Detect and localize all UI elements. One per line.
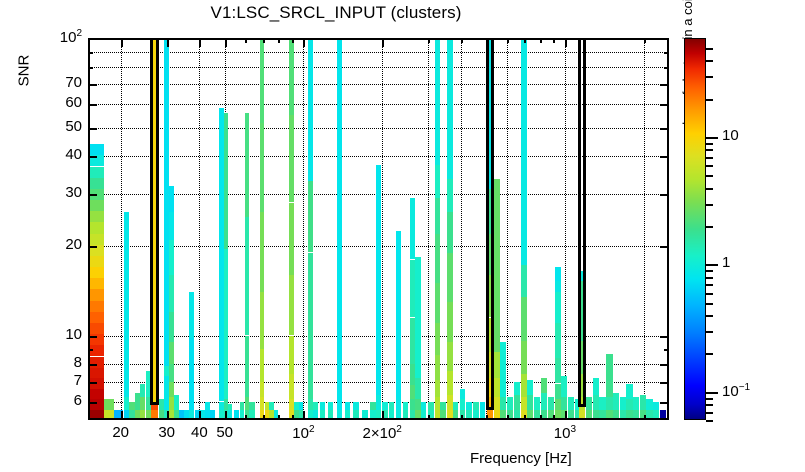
heatmap-cell xyxy=(613,410,619,420)
heatmap-cell xyxy=(345,410,350,420)
y-tick-major xyxy=(88,156,97,158)
heatmap-cell xyxy=(633,397,639,410)
heatmap-cell xyxy=(169,186,174,212)
heatmap-cell xyxy=(653,402,660,411)
heatmap-cell xyxy=(514,410,520,420)
heatmap-cell xyxy=(210,410,215,420)
heatmap-cell xyxy=(88,211,104,222)
heatmap-cell xyxy=(313,402,318,411)
heatmap-cell xyxy=(613,393,619,410)
heatmap-cell xyxy=(362,410,367,420)
y-axis-title: SNR xyxy=(16,41,33,101)
heatmap-cell xyxy=(228,410,232,420)
x-tick-minor xyxy=(278,415,280,420)
heatmap-cell xyxy=(435,198,441,234)
heatmap-cell xyxy=(453,402,459,411)
heatmap-cell xyxy=(88,222,104,233)
heatmap-cell xyxy=(421,402,427,411)
colorbar-tick-minor xyxy=(706,48,713,50)
y-tick-major-right xyxy=(660,38,669,40)
heatmap-cell xyxy=(88,410,104,420)
y-tick-minor xyxy=(88,52,93,54)
y-tick-major xyxy=(88,38,97,40)
heatmap-cell xyxy=(460,389,466,399)
heatmap-cell xyxy=(260,382,265,398)
gridline-vertical xyxy=(382,38,383,420)
y-tick-major xyxy=(88,128,97,130)
heatmap-cell xyxy=(473,410,479,420)
heatmap-cell xyxy=(586,397,592,410)
heatmap-cell xyxy=(88,368,104,378)
heatmap-cell xyxy=(88,312,104,323)
colorbar-tick-label: 10 xyxy=(722,127,739,144)
heatmap-cell xyxy=(289,38,294,115)
colorbar-tick-minor xyxy=(706,165,713,167)
x-tick-minor xyxy=(486,415,488,420)
heatmap-cell xyxy=(308,38,313,181)
heatmap-cell xyxy=(345,402,350,411)
heatmap-cell xyxy=(260,38,265,123)
heatmap-cell xyxy=(308,253,313,400)
x-tick-label: 20 xyxy=(112,424,129,441)
colorbar-tick-label: 10−1 xyxy=(722,382,750,400)
heatmap-cell xyxy=(428,402,434,411)
heatmap-cell xyxy=(389,402,394,411)
x-tick-minor-top xyxy=(540,38,542,43)
heatmap-cell xyxy=(289,203,294,275)
y-tick-major-right xyxy=(660,84,669,86)
heatmap-cell xyxy=(88,178,104,189)
heatmap-cell xyxy=(403,410,409,420)
heatmap-cell xyxy=(527,380,533,395)
y-tick-major xyxy=(88,402,97,404)
colorbar-tick-minor xyxy=(706,412,713,414)
heatmap-cell xyxy=(561,376,568,397)
y-tick-major xyxy=(88,194,97,196)
heatmap-cell xyxy=(599,410,605,420)
y-tick-minor-right xyxy=(664,349,669,351)
x-tick-major xyxy=(225,411,227,420)
y-tick-major xyxy=(88,246,97,248)
x-tick-minor-top xyxy=(644,38,646,43)
heatmap-cell xyxy=(88,200,104,211)
heatmap-cell xyxy=(328,410,333,420)
heatmap-cell xyxy=(169,342,174,364)
heatmap-cell xyxy=(500,397,506,410)
x-tick-label: 40 xyxy=(191,424,208,441)
heatmap-cell xyxy=(606,354,612,398)
x-tick-minor xyxy=(292,415,294,420)
heatmap-cell xyxy=(88,267,104,278)
y-tick-minor xyxy=(88,67,93,69)
gridline-vertical xyxy=(565,38,566,420)
heatmap-cell xyxy=(104,410,114,420)
heatmap-cell xyxy=(660,410,667,420)
heatmap-cell xyxy=(260,123,265,213)
colorbar-tick-major xyxy=(706,137,718,139)
heatmap-cell xyxy=(606,410,612,420)
heatmap-cell xyxy=(289,336,294,375)
heatmap-cell xyxy=(313,410,318,420)
heatmap-cell xyxy=(435,355,441,380)
heatmap-cell xyxy=(396,397,401,410)
heatmap-cell xyxy=(260,349,265,382)
heatmap-cell xyxy=(415,257,420,378)
chart-title: V1:LSC_SRCL_INPUT (clusters) xyxy=(0,3,672,23)
heatmap-cell xyxy=(521,297,527,341)
heatmap-cell xyxy=(447,253,453,302)
y-tick-minor-right xyxy=(664,52,669,54)
x-tick-minor-top xyxy=(553,38,555,43)
heatmap-cell xyxy=(403,402,409,411)
heatmap-cell xyxy=(626,410,632,420)
heatmap-cell xyxy=(189,338,194,410)
y-tick-major-right xyxy=(660,246,669,248)
colorbar-tick-minor xyxy=(706,353,713,355)
heatmap-cell xyxy=(440,402,446,411)
heatmap-cell xyxy=(480,410,486,420)
x-tick-major-top xyxy=(303,38,305,47)
y-tick-major-right xyxy=(660,156,669,158)
heatmap-cell xyxy=(435,234,441,284)
heatmap-cell xyxy=(606,397,612,410)
y-tick-major-right xyxy=(660,336,669,338)
heatmap-cell xyxy=(548,397,554,410)
heatmap-cell xyxy=(376,410,381,420)
heatmap-cell xyxy=(435,380,441,398)
x-tick-minor-top xyxy=(461,38,463,43)
heatmap-cell xyxy=(480,402,486,411)
heatmap-cell xyxy=(224,249,229,399)
heatmap-cell xyxy=(561,397,568,410)
heatmap-cell xyxy=(586,410,592,420)
heatmap-cell xyxy=(415,378,420,399)
heatmap-cell xyxy=(376,165,381,396)
heatmap-cell xyxy=(189,292,194,338)
y-tick-major-right xyxy=(660,104,669,106)
heatmap-cell xyxy=(289,374,294,399)
heatmap-cell xyxy=(88,378,104,389)
heatmap-cell xyxy=(555,292,561,323)
heatmap-cell xyxy=(440,410,446,420)
heatmap-cell xyxy=(541,410,547,420)
heatmap-cell xyxy=(626,384,632,400)
heatmap-cell xyxy=(555,281,561,292)
gridline-vertical xyxy=(644,38,645,420)
heatmap-cell xyxy=(633,410,639,420)
colorbar-tick-minor xyxy=(706,331,713,333)
heatmap-cell xyxy=(353,410,359,420)
heatmap-cell xyxy=(500,342,506,397)
x-tick-label: 50 xyxy=(216,424,233,441)
x-tick-major-top xyxy=(382,38,384,47)
heatmap-cell xyxy=(289,115,294,202)
heatmap-cell xyxy=(620,410,626,420)
colorbar-tick-minor xyxy=(706,149,713,151)
veto-band-box xyxy=(150,38,159,405)
heatmap-cell xyxy=(599,397,605,410)
heatmap-cell xyxy=(151,410,158,420)
heatmap-cell xyxy=(447,302,453,343)
veto-band-box xyxy=(578,38,586,407)
heatmap-cell xyxy=(410,198,416,260)
y-tick-major-right xyxy=(660,194,669,196)
heatmap-cell xyxy=(245,336,250,398)
colorbar-frame xyxy=(684,38,706,420)
heatmap-cell xyxy=(453,410,459,420)
colorbar-tick-minor xyxy=(706,175,713,177)
heatmap-cell xyxy=(447,342,453,371)
heatmap-cell xyxy=(473,402,479,411)
heatmap-cell xyxy=(260,292,265,349)
heatmap-cell xyxy=(435,323,441,355)
heatmap-cell xyxy=(88,144,104,155)
y-tick-major xyxy=(88,382,97,384)
heatmap-cell xyxy=(320,402,325,411)
heatmap-cell xyxy=(593,395,599,410)
heatmap-cell xyxy=(169,212,174,240)
heatmap-cell xyxy=(646,410,653,420)
x-tick-minor xyxy=(524,415,526,420)
heatmap-cell xyxy=(466,410,472,420)
heatmap-cell xyxy=(396,410,401,420)
heatmap-cell xyxy=(514,382,520,396)
x-tick-minor xyxy=(644,415,646,420)
x-tick-major xyxy=(199,411,201,420)
y-tick-minor xyxy=(88,349,93,351)
colorbar-tick-minor xyxy=(706,60,713,62)
colorbar-tick-minor xyxy=(706,284,713,286)
heatmap-cell xyxy=(527,410,533,420)
heatmap-cell xyxy=(308,181,313,252)
heatmap-cell xyxy=(88,289,104,300)
heatmap-cell xyxy=(396,231,401,398)
heatmap-cell xyxy=(88,301,104,312)
heatmap-cell xyxy=(447,38,453,179)
x-tick-minor xyxy=(540,415,542,420)
heatmap-cell xyxy=(568,410,575,420)
heatmap-cell xyxy=(460,399,466,410)
x-tick-label: 103 xyxy=(554,424,576,442)
y-tick-major xyxy=(88,364,97,366)
y-tick-major-right xyxy=(660,402,669,404)
heatmap-cell xyxy=(289,275,294,336)
heatmap-cell xyxy=(521,265,527,296)
x-tick-minor-top xyxy=(292,38,294,43)
heatmap-cell xyxy=(174,395,179,410)
heatmap-cell xyxy=(521,38,527,265)
x-tick-minor xyxy=(553,415,555,420)
heatmap-cell xyxy=(337,410,342,420)
heatmap-cell xyxy=(435,165,441,198)
heatmap-cell xyxy=(421,410,427,420)
x-tick-major xyxy=(121,411,123,420)
heatmap-cell xyxy=(447,179,453,212)
heatmap-cell xyxy=(320,410,325,420)
heatmap-cell xyxy=(299,402,304,411)
heatmap-cell xyxy=(88,278,104,289)
colorbar-tick-label: 1 xyxy=(722,254,730,271)
heatmap-cell xyxy=(568,397,575,410)
y-tick-minor-right xyxy=(664,67,669,69)
colorbar-tick-minor xyxy=(706,404,713,406)
y-tick-major xyxy=(88,336,97,338)
heatmap-cell xyxy=(593,410,599,420)
x-tick-minor-top xyxy=(507,38,509,43)
heatmap-cell xyxy=(653,410,660,420)
heatmap-cell xyxy=(447,371,453,395)
heatmap-cell xyxy=(249,402,254,411)
heatmap-cell xyxy=(88,389,104,399)
x-tick-major xyxy=(167,411,169,420)
veto-band-box xyxy=(486,38,494,410)
heatmap-cell xyxy=(466,402,472,411)
heatmap-cell xyxy=(328,402,333,411)
x-tick-minor xyxy=(507,415,509,420)
x-tick-major-top xyxy=(199,38,201,47)
heatmap-cell xyxy=(260,212,265,292)
heatmap-cell xyxy=(234,410,239,420)
gridline-vertical xyxy=(303,38,304,420)
x-tick-minor xyxy=(263,415,265,420)
heatmap-cell xyxy=(555,323,561,358)
heatmap-cell xyxy=(500,410,506,420)
y-tick-major xyxy=(88,84,97,86)
heatmap-cell xyxy=(124,212,129,397)
heatmap-cell xyxy=(205,402,210,411)
heatmap-cell xyxy=(337,38,342,410)
y-tick-major-right xyxy=(660,382,669,384)
colorbar-tick-minor xyxy=(706,204,713,206)
heatmap-cell xyxy=(269,402,274,411)
colorbar-tick-minor xyxy=(706,99,713,101)
heatmap-cell xyxy=(521,341,527,375)
heatmap-cell xyxy=(169,275,174,312)
x-axis-title: Frequency [Hz] xyxy=(470,450,572,467)
chart-root: V1:LSC_SRCL_INPUT (clusters) SNR Frequen… xyxy=(0,0,805,472)
x-tick-major xyxy=(382,411,384,420)
gridline-vertical xyxy=(507,38,508,420)
colorbar-tick-major xyxy=(706,392,718,394)
colorbar-tick-minor xyxy=(706,420,713,422)
colorbar-tick-minor xyxy=(706,293,713,295)
heatmap-cell xyxy=(169,240,174,275)
colorbar-tick-minor xyxy=(706,315,713,317)
x-tick-label: 2×102 xyxy=(363,424,402,442)
x-tick-minor-top xyxy=(263,38,265,43)
colorbar-tick-minor xyxy=(706,398,713,400)
x-tick-major xyxy=(565,411,567,420)
heatmap-cell xyxy=(245,217,250,335)
gridline-vertical xyxy=(121,38,122,420)
x-tick-minor-top xyxy=(245,38,247,43)
heatmap-cell xyxy=(228,404,232,411)
heatmap-cell xyxy=(435,283,441,323)
x-tick-minor-top xyxy=(278,38,280,43)
x-tick-minor xyxy=(428,415,430,420)
x-tick-label: 102 xyxy=(292,424,314,442)
heatmap-cell xyxy=(353,402,359,411)
x-tick-minor xyxy=(245,415,247,420)
heatmap-cell xyxy=(169,312,174,342)
colorbar-tick-minor xyxy=(706,157,713,159)
gridline-vertical xyxy=(199,38,200,420)
colorbar-tick-minor xyxy=(706,277,713,279)
heatmap-cell xyxy=(88,167,104,178)
heatmap-cell xyxy=(626,399,632,410)
heatmap-cell xyxy=(593,378,599,395)
colorbar-tick-minor xyxy=(706,143,713,145)
heatmap-cell xyxy=(640,395,646,410)
x-tick-major-top xyxy=(167,38,169,47)
heatmap-cell xyxy=(620,397,626,410)
heatmap-cell xyxy=(447,212,453,253)
y-tick-major-right xyxy=(660,364,669,366)
heatmap-cell xyxy=(514,395,520,410)
heatmap-cell xyxy=(169,364,174,381)
y-tick-major-right xyxy=(660,128,669,130)
x-tick-major xyxy=(303,411,305,420)
heatmap-cell xyxy=(249,410,254,420)
colorbar-tick-minor xyxy=(706,226,713,228)
heatmap-cell xyxy=(555,267,561,282)
heatmap-cell xyxy=(224,113,229,249)
heatmap-cell xyxy=(507,397,513,410)
x-tick-label: 30 xyxy=(158,424,175,441)
heatmap-cell xyxy=(534,397,540,410)
heatmap-cell xyxy=(376,395,381,410)
heatmap-cell xyxy=(487,410,493,420)
x-tick-minor-top xyxy=(524,38,526,43)
heatmap-cell xyxy=(527,395,533,410)
heatmap-cell xyxy=(579,410,585,420)
colorbar-tick-minor xyxy=(706,270,713,272)
heatmap-cell xyxy=(646,399,653,410)
colorbar-tick-minor xyxy=(706,76,713,78)
heatmap-cell xyxy=(494,179,500,352)
heatmap-cell xyxy=(104,399,114,410)
heatmap-cell xyxy=(541,378,547,393)
heatmap-cell xyxy=(382,402,388,411)
heatmap-cell xyxy=(88,234,104,245)
heatmap-cell xyxy=(389,410,394,420)
x-tick-major-top xyxy=(121,38,123,47)
gridline-vertical xyxy=(461,38,462,420)
heatmap-cell xyxy=(88,256,104,267)
heatmap-cell xyxy=(88,323,104,334)
plot-area xyxy=(88,38,669,420)
colorbar-tick-major xyxy=(706,264,718,266)
colorbar-tick-minor xyxy=(706,303,713,305)
x-tick-minor-top xyxy=(486,38,488,43)
y-tick-major xyxy=(88,104,97,106)
heatmap-cell xyxy=(245,113,250,217)
x-tick-minor xyxy=(461,415,463,420)
gridline-vertical xyxy=(428,38,429,420)
x-tick-minor-top xyxy=(428,38,430,43)
x-tick-major-top xyxy=(225,38,227,47)
heatmap-cell xyxy=(435,38,441,165)
colorbar-tick-minor xyxy=(706,188,713,190)
heatmap-cell xyxy=(541,393,547,410)
x-tick-major-top xyxy=(565,38,567,47)
